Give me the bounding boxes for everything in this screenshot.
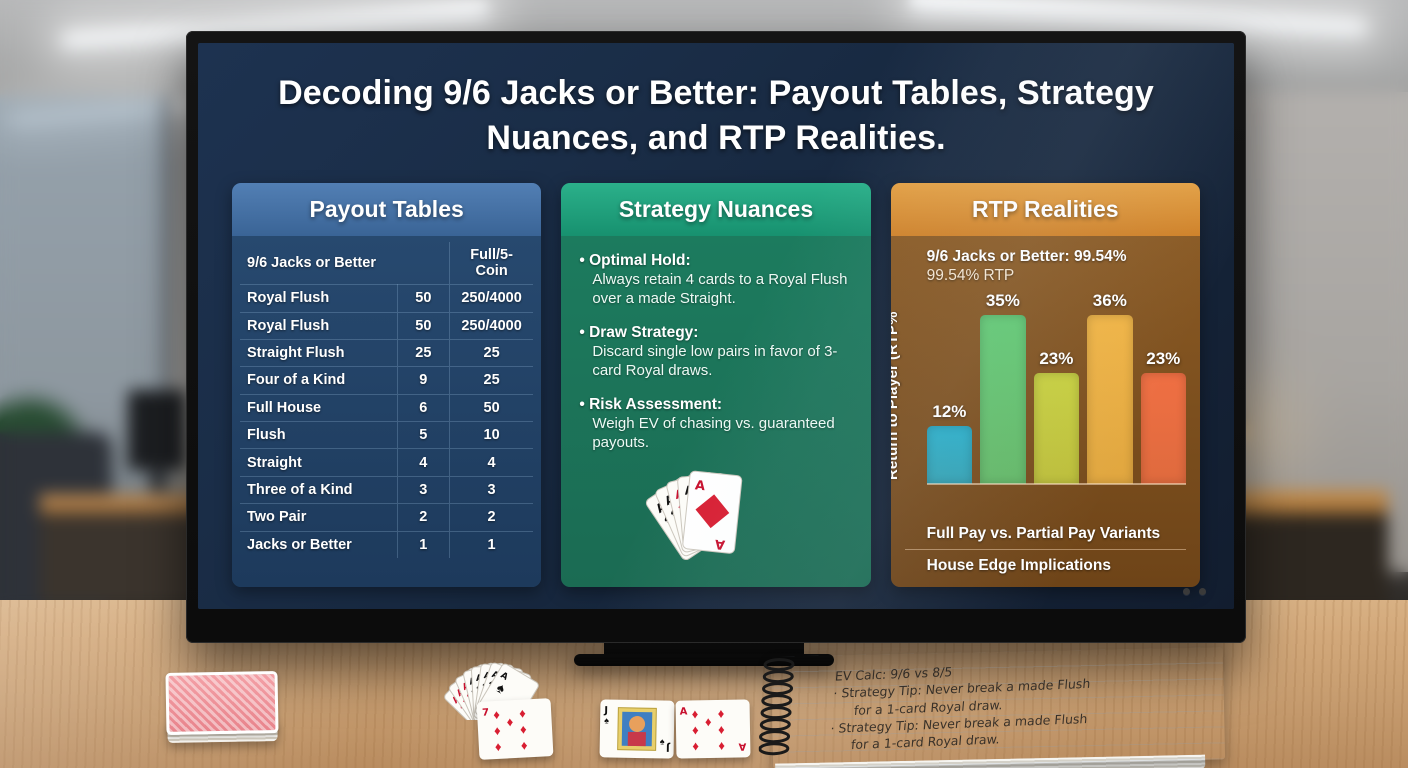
strategy-bullet: Draw Strategy:Discard single low pairs i…	[579, 324, 852, 381]
rtp-footer-line-2: House Edge Implications	[905, 550, 1186, 577]
payout-value-2: 4	[449, 449, 533, 476]
chart-bar-column: 23%	[1034, 291, 1079, 484]
svg-text:♦: ♦	[718, 722, 725, 737]
payout-value-2: 25	[449, 339, 533, 366]
chart-y-axis-label: Return to Player (RTP%	[891, 312, 901, 480]
strategy-bullet-list: Optimal Hold:Always retain 4 cards to a …	[579, 252, 852, 453]
svg-text:♦: ♦	[506, 714, 514, 729]
chart-bar-value-label: 23%	[1146, 349, 1180, 369]
playing-card-jack-spades: J ♠ J ♠	[599, 699, 674, 758]
monitor-screen: Decoding 9/6 Jacks or Better: Payout Tab…	[198, 43, 1234, 609]
strategy-bullet-title: Risk Assessment:	[579, 396, 852, 414]
panel-strategy-nuances: Strategy Nuances Optimal Hold:Always ret…	[561, 183, 870, 587]
payout-value-1: 25	[397, 339, 449, 366]
panel-rtp-body: 9/6 Jacks or Better: 99.54% 99.54% RTP R…	[891, 236, 1200, 587]
table-row: Full House650	[240, 394, 533, 421]
svg-text:♦: ♦	[718, 738, 725, 753]
notepad-paper: EV Calc: 9/6 vs 8/5 · Strategy Tip: Neve…	[771, 647, 1225, 768]
table-row: Flush510	[240, 422, 533, 449]
rtp-footer: Full Pay vs. Partial Pay Variants House …	[905, 520, 1186, 577]
payout-value-1: 3	[397, 476, 449, 503]
rtp-note-line-2: 99.54% RTP	[905, 267, 1186, 285]
svg-text:♠: ♠	[660, 736, 665, 746]
payout-value-1: 2	[397, 504, 449, 531]
chart-bar-column: 12%	[927, 291, 972, 484]
chart-bar	[980, 315, 1025, 484]
table-row: Straight Flush2525	[240, 339, 533, 366]
strategy-bullet: Optimal Hold:Always retain 4 cards to a …	[579, 252, 852, 309]
payout-value-1: 1	[397, 531, 449, 558]
svg-text:♠: ♠	[604, 715, 609, 725]
payout-table-header-row: 9/6 Jacks or BetterFull/5-Coin	[240, 242, 533, 285]
chart-bar	[927, 426, 972, 484]
svg-text:A: A	[738, 740, 746, 751]
payout-hand-name: Two Pair	[240, 504, 397, 531]
table-row: Straight44	[240, 449, 533, 476]
notepad: EV Calc: 9/6 vs 8/5 · Strategy Tip: Neve…	[771, 647, 1225, 768]
strategy-bullet-text: Weigh EV of chasing vs. guaranteed payou…	[592, 414, 852, 453]
rtp-note-line-1: 9/6 Jacks or Better: 99.54%	[905, 248, 1186, 266]
payout-value-2: 2	[449, 504, 533, 531]
payout-value-2: 1	[449, 531, 533, 558]
payout-hand-name: Three of a Kind	[240, 476, 397, 503]
payout-value-1: 9	[397, 367, 449, 394]
panel-strategy-heading: Strategy Nuances	[561, 183, 870, 236]
svg-text:A: A	[694, 478, 706, 494]
svg-text:A: A	[714, 536, 726, 552]
payout-value-2: 250/4000	[449, 312, 533, 339]
payout-col-header-hand: 9/6 Jacks or Better	[240, 242, 449, 285]
table-row: Jacks or Better11	[240, 531, 533, 558]
payout-value-2: 25	[449, 367, 533, 394]
payout-hand-name: Flush	[240, 422, 397, 449]
payout-table: 9/6 Jacks or BetterFull/5-CoinRoyal Flus…	[240, 242, 533, 558]
chart-bars: 12%35%23%36%23%	[927, 291, 1186, 484]
panels-row: Payout Tables 9/6 Jacks or BetterFull/5-…	[232, 183, 1200, 587]
monitor: Decoding 9/6 Jacks or Better: Payout Tab…	[186, 31, 1246, 643]
chart-bar-value-label: 23%	[1039, 349, 1073, 369]
chart-x-axis	[927, 483, 1186, 485]
table-row: Three of a Kind33	[240, 476, 533, 503]
slide-title: Decoding 9/6 Jacks or Better: Payout Tab…	[232, 71, 1200, 161]
chart-bar-value-label: 36%	[1093, 291, 1127, 311]
payout-col-header-coin: Full/5-Coin	[449, 242, 533, 285]
card-deck-back	[165, 671, 278, 735]
payout-value-2: 250/4000	[449, 285, 533, 312]
monitor-indicator-dots	[1183, 588, 1206, 595]
payout-value-1: 5	[397, 422, 449, 449]
playing-cards-fan-icon: A ♠ A ♠	[616, 449, 816, 561]
svg-text:♦: ♦	[493, 707, 501, 722]
payout-value-1: 50	[397, 312, 449, 339]
svg-text:♦: ♦	[718, 706, 725, 721]
svg-text:♦: ♦	[692, 706, 699, 721]
payout-hand-name: Jacks or Better	[240, 531, 397, 558]
panel-payout-heading: Payout Tables	[232, 183, 541, 236]
rtp-footer-line-1: Full Pay vs. Partial Pay Variants	[905, 520, 1186, 550]
notepad-handwriting: EV Calc: 9/6 vs 8/5 · Strategy Tip: Neve…	[828, 653, 1215, 754]
chart-bar-column: 23%	[1141, 291, 1186, 484]
playing-card-seven-diamonds: 7 ♦♦ ♦♦ ♦ ♦♦	[477, 698, 554, 760]
office-scene: Decoding 9/6 Jacks or Better: Payout Tab…	[0, 0, 1408, 768]
strategy-bullet-text: Always retain 4 cards to a Royal Flush o…	[592, 270, 852, 309]
svg-text:♦: ♦	[520, 737, 528, 752]
monitor-bottom-bezel	[198, 575, 1234, 609]
svg-text:♦: ♦	[692, 738, 699, 753]
chart-bar-value-label: 35%	[986, 291, 1020, 311]
playing-card-seven-diamonds-2: A ♦♦ ♦♦ ♦ ♦♦ A	[675, 699, 750, 758]
strategy-bullet-text: Discard single low pairs in favor of 3-c…	[592, 342, 852, 381]
table-row: Royal Flush50250/4000	[240, 312, 533, 339]
svg-text:♦: ♦	[705, 714, 712, 729]
panel-rtp-heading: RTP Realities	[891, 183, 1200, 236]
table-row: Royal Flush50250/4000	[240, 285, 533, 312]
chart-bar-column: 35%	[980, 291, 1025, 484]
svg-text:♦: ♦	[494, 739, 502, 754]
payout-hand-name: Straight	[240, 449, 397, 476]
panel-payout-tables: Payout Tables 9/6 Jacks or BetterFull/5-…	[232, 183, 541, 587]
payout-value-1: 50	[397, 285, 449, 312]
card-deck	[165, 671, 278, 735]
indicator-dot	[1199, 588, 1206, 595]
indicator-dot	[1183, 588, 1190, 595]
panel-strategy-body: Optimal Hold:Always retain 4 cards to a …	[561, 236, 870, 587]
svg-text:♦: ♦	[519, 705, 527, 720]
strategy-bullet-title: Optimal Hold:	[579, 252, 852, 270]
payout-hand-name: Four of a Kind	[240, 367, 397, 394]
svg-text:♦: ♦	[692, 722, 699, 737]
chart-bar-column: 36%	[1087, 291, 1132, 484]
strategy-bullet-title: Draw Strategy:	[579, 324, 852, 342]
payout-hand-name: Royal Flush	[240, 285, 397, 312]
payout-value-1: 6	[397, 394, 449, 421]
payout-hand-name: Straight Flush	[240, 339, 397, 366]
svg-text:A: A	[680, 706, 688, 717]
payout-hand-name: Royal Flush	[240, 312, 397, 339]
notepad-spiral-binding	[757, 654, 803, 768]
payout-value-2: 10	[449, 422, 533, 449]
chart-bar-value-label: 12%	[932, 402, 966, 422]
panel-rtp-realities: RTP Realities 9/6 Jacks or Better: 99.54…	[891, 183, 1200, 587]
table-row: Two Pair22	[240, 504, 533, 531]
svg-text:7: 7	[482, 707, 490, 718]
payout-value-2: 50	[449, 394, 533, 421]
table-row: Four of a Kind925	[240, 367, 533, 394]
svg-text:♦: ♦	[520, 721, 528, 736]
rtp-bar-chart: Return to Player (RTP% 12%35%23%36%23%	[905, 291, 1186, 518]
panel-payout-body: 9/6 Jacks or BetterFull/5-CoinRoyal Flus…	[232, 236, 541, 587]
svg-text:♦: ♦	[494, 723, 502, 738]
chart-bar	[1141, 373, 1186, 484]
chart-bar	[1087, 315, 1132, 484]
strategy-bullet: Risk Assessment:Weigh EV of chasing vs. …	[579, 396, 852, 453]
svg-text:J: J	[666, 742, 671, 753]
chart-bar	[1034, 373, 1079, 484]
presentation-slide: Decoding 9/6 Jacks or Better: Payout Tab…	[198, 43, 1234, 609]
payout-value-2: 3	[449, 476, 533, 503]
payout-hand-name: Full House	[240, 394, 397, 421]
payout-value-1: 4	[397, 449, 449, 476]
